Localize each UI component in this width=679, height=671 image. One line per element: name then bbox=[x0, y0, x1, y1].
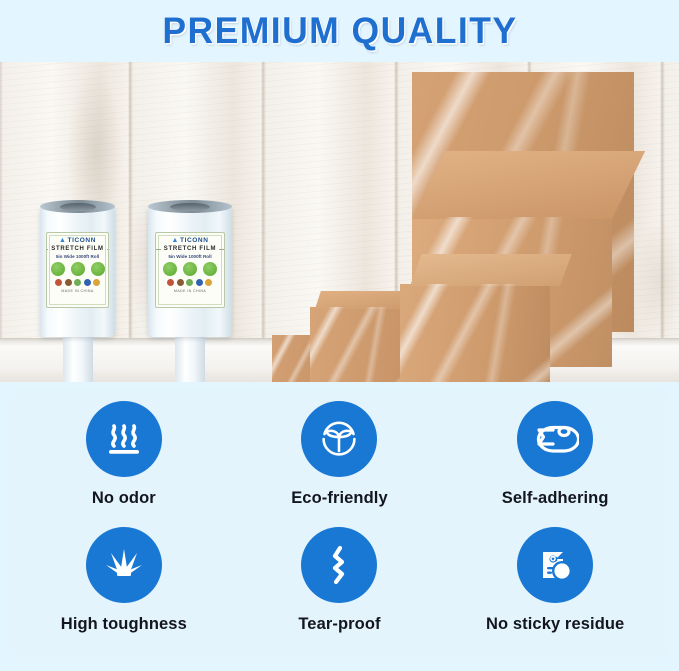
label-green-icon bbox=[71, 262, 85, 276]
cert-badge bbox=[196, 279, 203, 286]
feature-high-toughness: High toughness bbox=[16, 527, 232, 653]
feature-label: Self-adhering bbox=[502, 489, 609, 508]
cert-badge bbox=[84, 279, 91, 286]
stretch-film-roll-left: ▲ TICONN STRETCH FILM 5in Wide 1000ft Ro… bbox=[40, 205, 115, 382]
cert-badge bbox=[65, 279, 72, 286]
label-green-icon bbox=[51, 262, 65, 276]
feature-label: No sticky residue bbox=[486, 615, 624, 634]
roll-core bbox=[63, 333, 93, 382]
header-banner: PREMIUM QUALITY bbox=[0, 0, 679, 62]
zigzag-tear-icon bbox=[315, 541, 363, 589]
feature-eco-friendly: Eco-friendly bbox=[232, 401, 448, 527]
feature-icon-circle bbox=[301, 527, 377, 603]
label-title: STRETCH FILM bbox=[51, 246, 103, 252]
box-small bbox=[310, 307, 405, 382]
steam-waves-icon bbox=[101, 416, 147, 462]
box-top-face bbox=[410, 254, 572, 286]
label-brand-text: TICONN bbox=[180, 237, 209, 244]
film-roll-icon bbox=[531, 415, 579, 463]
cert-badge bbox=[177, 279, 184, 286]
cert-badge bbox=[93, 279, 100, 286]
features-grid: No odor Eco-friendly bbox=[8, 387, 671, 663]
roll-rim-inner bbox=[170, 203, 210, 211]
box-top-face bbox=[412, 151, 645, 219]
label-green-icon bbox=[183, 262, 197, 276]
feature-self-adhering: Self-adhering bbox=[447, 401, 663, 527]
certificate-badge-icon bbox=[531, 541, 579, 589]
film-sheen bbox=[400, 284, 550, 382]
feature-tear-proof: Tear-proof bbox=[232, 527, 448, 653]
label-feature-icons bbox=[163, 262, 217, 276]
cert-badge bbox=[205, 279, 212, 286]
label-subtitle: 5in Wide 1000ft Roll bbox=[168, 254, 211, 259]
roll-rim-inner bbox=[60, 203, 96, 211]
feature-no-odor: No odor bbox=[16, 401, 232, 527]
roll-body: ▲ TICONN STRETCH FILM 5in Wide 1000ft Ro… bbox=[40, 205, 115, 337]
ticonn-logo-icon: ▲ bbox=[59, 237, 67, 244]
sprout-leaves-icon bbox=[315, 415, 363, 463]
label-green-icon bbox=[203, 262, 217, 276]
feature-icon-circle bbox=[86, 527, 162, 603]
box-cube bbox=[400, 284, 550, 382]
label-certification-badges bbox=[55, 279, 100, 286]
cert-badge bbox=[186, 279, 193, 286]
feature-label: Tear-proof bbox=[298, 615, 380, 634]
burst-spikes-icon bbox=[100, 541, 148, 589]
label-feature-icons bbox=[51, 262, 105, 276]
roll-core bbox=[175, 333, 205, 382]
label-title: STRETCH FILM bbox=[164, 246, 216, 252]
features-panel: No odor Eco-friendly bbox=[8, 387, 671, 663]
film-sheen bbox=[310, 307, 405, 382]
label-brand-text: TICONN bbox=[68, 237, 97, 244]
cert-badge bbox=[167, 279, 174, 286]
feature-icon-circle bbox=[301, 401, 377, 477]
label-subtitle: 5in Wide 1000ft Roll bbox=[56, 254, 99, 259]
label-brand: ▲ TICONN bbox=[59, 237, 96, 244]
feature-no-sticky-residue: No sticky residue bbox=[447, 527, 663, 653]
label-origin: MADE IN CHINA bbox=[174, 289, 206, 293]
product-photo: ▲ TICONN STRETCH FILM 5in Wide 1000ft Ro… bbox=[0, 62, 679, 382]
stretch-film-roll-right: ▲ TICONN STRETCH FILM 5in Wide 1000ft Ro… bbox=[148, 205, 232, 382]
ticonn-logo-icon: ▲ bbox=[171, 237, 179, 244]
label-green-icon bbox=[91, 262, 105, 276]
label-green-icon bbox=[163, 262, 177, 276]
feature-icon-circle bbox=[86, 401, 162, 477]
feature-icon-circle bbox=[517, 527, 593, 603]
label-certification-badges bbox=[167, 279, 212, 286]
page-title: PREMIUM QUALITY bbox=[162, 10, 517, 52]
feature-label: Eco-friendly bbox=[291, 489, 388, 508]
label-brand: ▲ TICONN bbox=[171, 237, 208, 244]
cert-badge bbox=[55, 279, 62, 286]
label-origin: MADE IN CHINA bbox=[61, 289, 93, 293]
feature-label: No odor bbox=[92, 489, 156, 508]
product-label: ▲ TICONN STRETCH FILM 5in Wide 1000ft Ro… bbox=[46, 232, 109, 308]
feature-label: High toughness bbox=[61, 615, 187, 634]
product-label: ▲ TICONN STRETCH FILM 5in Wide 1000ft Ro… bbox=[155, 232, 226, 308]
cert-badge bbox=[74, 279, 81, 286]
feature-icon-circle bbox=[517, 401, 593, 477]
roll-body: ▲ TICONN STRETCH FILM 5in Wide 1000ft Ro… bbox=[148, 205, 232, 337]
